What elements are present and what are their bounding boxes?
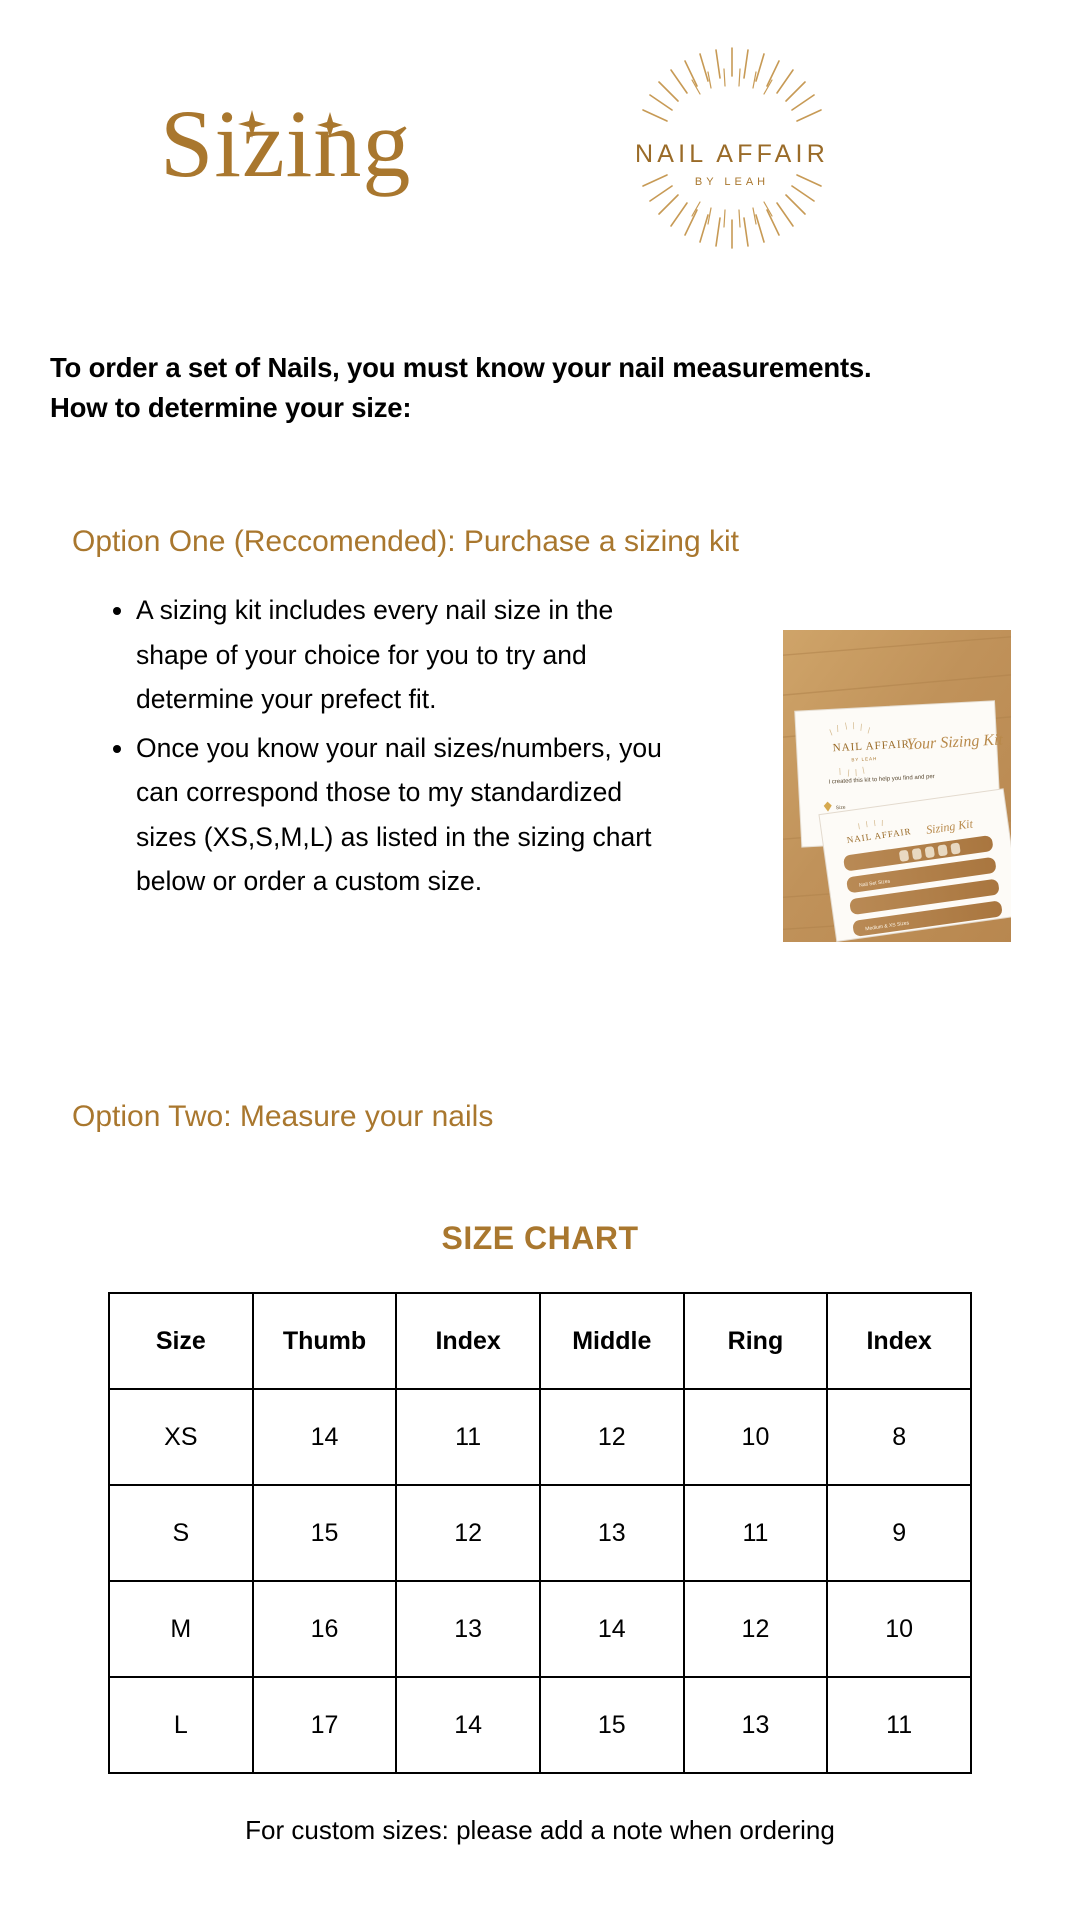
cell-size: L bbox=[109, 1677, 253, 1773]
cell-ring: 13 bbox=[684, 1677, 828, 1773]
cell-middle: 12 bbox=[540, 1389, 684, 1485]
intro-paragraph: To order a set of Nails, you must know y… bbox=[50, 348, 1040, 428]
size-chart-table: Size Thumb Index Middle Ring Index XS 14… bbox=[108, 1292, 972, 1774]
table-row: S 15 12 13 11 9 bbox=[109, 1485, 971, 1581]
intro-line-1: To order a set of Nails, you must know y… bbox=[50, 348, 1040, 388]
table-row: XS 14 11 12 10 8 bbox=[109, 1389, 971, 1485]
column-header-thumb: Thumb bbox=[253, 1293, 397, 1389]
cell-index: 14 bbox=[396, 1677, 540, 1773]
cell-pinky: 9 bbox=[827, 1485, 971, 1581]
option-two-heading: Option Two: Measure your nails bbox=[72, 1100, 493, 1134]
cell-pinky: 8 bbox=[827, 1389, 971, 1485]
column-header-index: Index bbox=[396, 1293, 540, 1389]
cell-size: S bbox=[109, 1485, 253, 1581]
svg-text:Size: Size bbox=[836, 805, 846, 812]
page-header: Sizing bbox=[0, 0, 1080, 270]
cell-ring: 11 bbox=[684, 1485, 828, 1581]
table-row: L 17 14 15 13 11 bbox=[109, 1677, 971, 1773]
cell-middle: 13 bbox=[540, 1485, 684, 1581]
logo-brand-name: NAIL AFFAIR bbox=[612, 140, 852, 169]
cell-pinky: 10 bbox=[827, 1581, 971, 1677]
cell-index: 12 bbox=[396, 1485, 540, 1581]
list-item: Once you know your nail sizes/numbers, y… bbox=[136, 726, 676, 904]
option-one-bullet-list: A sizing kit includes every nail size in… bbox=[100, 588, 676, 908]
cell-ring: 12 bbox=[684, 1581, 828, 1677]
size-chart-title: SIZE CHART bbox=[0, 1220, 1080, 1257]
table-header-row: Size Thumb Index Middle Ring Index bbox=[109, 1293, 971, 1389]
cell-pinky: 11 bbox=[827, 1677, 971, 1773]
logo-brand-tagline: BY LEAH bbox=[612, 176, 852, 188]
column-header-size: Size bbox=[109, 1293, 253, 1389]
cell-ring: 10 bbox=[684, 1389, 828, 1485]
intro-line-2: How to determine your size: bbox=[50, 388, 1040, 428]
cell-thumb: 17 bbox=[253, 1677, 397, 1773]
cell-thumb: 14 bbox=[253, 1389, 397, 1485]
column-header-pinky: Index bbox=[827, 1293, 971, 1389]
cell-index: 11 bbox=[396, 1389, 540, 1485]
page-title: Sizing bbox=[160, 96, 411, 192]
sizing-kit-photo: NAIL AFFAIR BY LEAH Your Sizing Kit I cr… bbox=[783, 630, 1011, 942]
option-one-heading: Option One (Reccomended): Purchase a siz… bbox=[72, 525, 739, 559]
cell-size: XS bbox=[109, 1389, 253, 1485]
cell-size: M bbox=[109, 1581, 253, 1677]
table-row: M 16 13 14 12 10 bbox=[109, 1581, 971, 1677]
cell-middle: 15 bbox=[540, 1677, 684, 1773]
column-header-ring: Ring bbox=[684, 1293, 828, 1389]
custom-size-note: For custom sizes: please add a note when… bbox=[0, 1815, 1080, 1846]
list-item: A sizing kit includes every nail size in… bbox=[136, 588, 676, 722]
brand-logo: NAIL AFFAIR BY LEAH bbox=[612, 42, 852, 254]
sizing-kit-photo-graphic: NAIL AFFAIR BY LEAH Your Sizing Kit I cr… bbox=[783, 630, 1011, 942]
column-header-middle: Middle bbox=[540, 1293, 684, 1389]
cell-thumb: 15 bbox=[253, 1485, 397, 1581]
cell-index: 13 bbox=[396, 1581, 540, 1677]
cell-middle: 14 bbox=[540, 1581, 684, 1677]
cell-thumb: 16 bbox=[253, 1581, 397, 1677]
